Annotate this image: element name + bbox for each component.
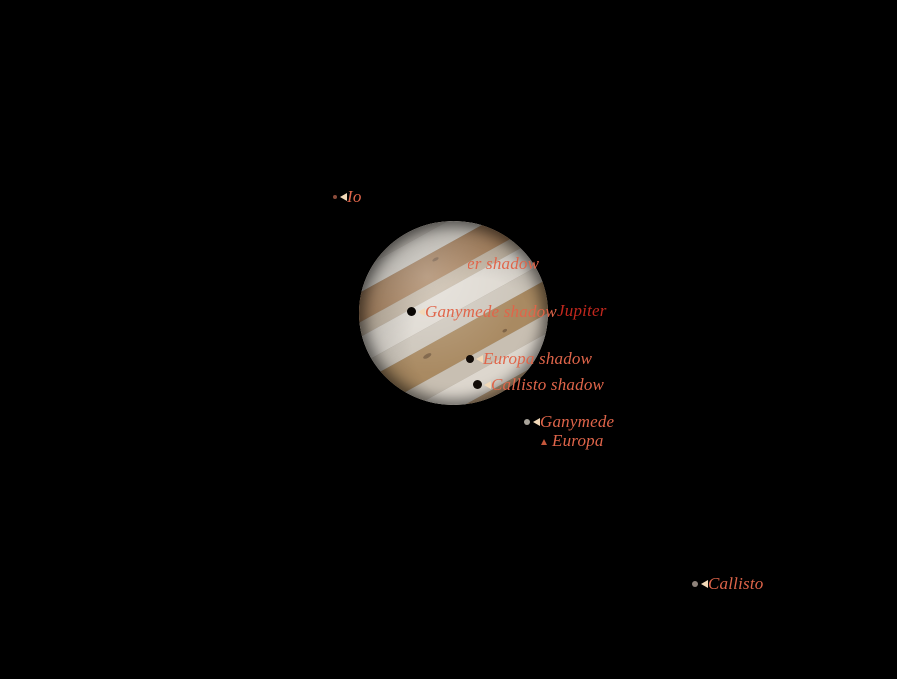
- ganymede-shadow-label-text: Ganymede shadow: [425, 303, 557, 320]
- io-label-text: Io: [347, 188, 362, 205]
- object-label-callisto-shadow[interactable]: Callisto shadow: [473, 376, 604, 393]
- io-pointer-icon: [340, 193, 347, 201]
- ganymede-marker-dot: [524, 419, 530, 425]
- jupiter-shadow-label-text: Jupiter shadow: [468, 255, 539, 272]
- sky-view[interactable]: Io Jupiter shadow Ganymede shadow Jupite…: [0, 0, 897, 679]
- ganymede-pointer-icon: [533, 418, 540, 426]
- europa-label-text: Europa: [552, 432, 604, 449]
- io-marker-dot: [333, 195, 337, 199]
- callisto-marker-dot: [692, 581, 698, 587]
- object-label-ganymede-shadow[interactable]: Ganymede shadow: [407, 303, 557, 320]
- object-label-jupiter-shadow[interactable]: Jupiter shadow: [468, 255, 630, 272]
- europa-triangle-icon: [541, 436, 547, 445]
- europa-shadow-pointer-icon: [476, 355, 483, 363]
- object-label-callisto[interactable]: Callisto: [692, 575, 763, 592]
- ganymede-label-text: Ganymede: [540, 413, 614, 430]
- callisto-label-text: Callisto: [708, 575, 763, 592]
- callisto-shadow-label-text: Callisto shadow: [491, 376, 604, 393]
- europa-shadow-label-text: Europa shadow: [483, 350, 592, 367]
- ganymede-shadow-pointer-icon: [418, 308, 425, 316]
- object-label-europa[interactable]: Europa: [541, 432, 604, 449]
- jupiter-label-text: Jupiter: [557, 302, 607, 319]
- callisto-shadow-marker-dot: [473, 380, 482, 389]
- ganymede-shadow-marker-dot: [407, 307, 416, 316]
- object-label-io[interactable]: Io: [333, 188, 362, 205]
- callisto-pointer-icon: [701, 580, 708, 588]
- object-label-ganymede[interactable]: Ganymede: [524, 413, 614, 430]
- europa-shadow-marker-dot: [466, 355, 474, 363]
- object-label-europa-shadow[interactable]: Europa shadow: [466, 350, 592, 367]
- object-label-jupiter[interactable]: Jupiter: [557, 302, 607, 319]
- callisto-shadow-pointer-icon: [484, 381, 491, 389]
